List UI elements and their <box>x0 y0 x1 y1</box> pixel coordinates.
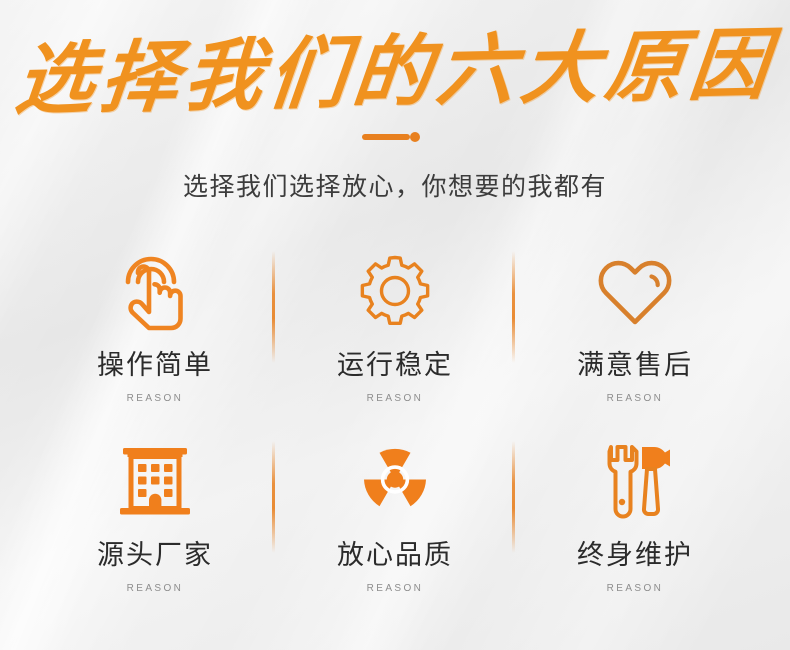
reasons-grid: 操作简单 REASON 运行稳定 REASON <box>35 237 755 617</box>
radiation-icon <box>353 433 437 529</box>
reason-label: 源头厂家 <box>97 533 213 572</box>
reason-label: 终身维护 <box>577 533 693 572</box>
wrench-hammer-icon <box>589 433 681 529</box>
reason-label: 满意售后 <box>577 343 693 382</box>
factory-building-icon <box>114 433 196 529</box>
reason-label: 操作简单 <box>97 343 213 382</box>
divider-bar <box>362 134 410 140</box>
reason-subtext: REASON <box>127 583 184 594</box>
header-section: 选择我们的六大原因 选择我们选择放心，你想要的我都有 <box>0 0 790 203</box>
tap-hand-icon <box>116 243 194 339</box>
heart-icon <box>593 243 677 339</box>
reason-subtext: REASON <box>607 583 664 594</box>
reason-subtext: REASON <box>367 583 424 594</box>
reason-subtext: REASON <box>367 393 424 404</box>
reason-item-lifetime-maintenance: 终身维护 REASON <box>515 427 755 617</box>
reason-subtext: REASON <box>607 393 664 404</box>
reason-item-stable-operation: 运行稳定 REASON <box>275 237 515 427</box>
reason-item-easy-operation: 操作简单 REASON <box>35 237 275 427</box>
divider-dot <box>410 132 420 142</box>
title-divider-ornament <box>362 132 428 141</box>
reason-label: 放心品质 <box>337 533 453 572</box>
reason-item-after-sales: 满意售后 REASON <box>515 237 755 427</box>
reason-item-quality: 放心品质 REASON <box>275 427 515 617</box>
promo-page: 选择我们的六大原因 选择我们选择放心，你想要的我都有 操作 <box>0 0 790 650</box>
reason-subtext: REASON <box>127 393 184 404</box>
page-title: 选择我们的六大原因 <box>0 26 790 121</box>
page-subtitle: 选择我们选择放心，你想要的我都有 <box>0 167 790 203</box>
reason-label: 运行稳定 <box>337 343 453 382</box>
gear-icon <box>355 243 435 339</box>
reason-item-source-factory: 源头厂家 REASON <box>35 427 275 617</box>
